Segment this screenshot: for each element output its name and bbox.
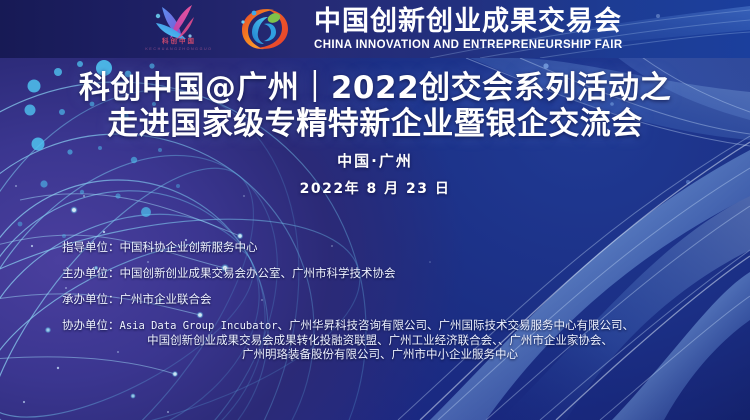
credit-label: 主办单位：	[62, 266, 120, 280]
banner-header: 科创中国 KECHUANGZHONGGUO	[0, 0, 750, 58]
credit-value: 广州市企业联合会	[120, 292, 212, 306]
coorganizer-line-3: 广州明珞装备股份有限公司、广州市中小企业服务中心	[74, 347, 686, 361]
event-location: 中国·广州	[0, 150, 750, 171]
coorganizer-label: 协办单位：	[62, 318, 120, 332]
credit-value: 中国科协企业创新服务中心	[120, 240, 258, 254]
credit-label: 指导单位：	[62, 240, 120, 254]
event-title-line-1: 科创中国@广州｜2022创交会系列活动之	[0, 70, 750, 106]
coorganizer-line-1-cn: 、广州华昇科技咨询有限公司、广州国际技术交易服务中心有限公司、	[278, 318, 635, 332]
kechuang-china-logo: 科创中国 KECHUANGZHONGGUO	[140, 2, 218, 56]
banner-title-en: CHINA INNOVATION AND ENTREPRENEURSHIP FA…	[314, 38, 623, 52]
credit-row: 指导单位：中国科协企业创新服务中心	[62, 240, 702, 254]
credit-value: 中国创新创业成果交易会办公室、广州市科学技术协会	[120, 266, 396, 280]
banner-title-cn: 中国创新创业成果交易会	[314, 7, 623, 37]
coorganizer-line-1-en: Asia Data Group Incubator	[120, 320, 278, 332]
kechuang-logo-mark	[140, 3, 218, 43]
event-title-line-2: 走进国家级专精特新企业暨银企交流会	[0, 106, 750, 142]
organizer-credits: 指导单位：中国科协企业创新服务中心 主办单位：中国创新创业成果交易会办公室、广州…	[62, 240, 702, 361]
coorganizer-line-2: 中国创新创业成果交易会成果转化投融资联盟、广州工业经济联合会、、广州市企业家协会…	[74, 333, 686, 347]
kechuang-logo-text-en: KECHUANGZHONGGUO	[140, 47, 218, 52]
coorganizer-row: 协办单位：Asia Data Group Incubator、广州华昇科技咨询有…	[62, 318, 702, 333]
event-poster: 科创中国 KECHUANGZHONGGUO	[0, 0, 750, 420]
credit-label: 承办单位：	[62, 292, 120, 306]
credit-row: 主办单位：中国创新创业成果交易会办公室、广州市科学技术协会	[62, 266, 702, 280]
credit-row: 承办单位：广州市企业联合会	[62, 292, 702, 306]
event-date: 2022年 8 月 23 日	[0, 178, 750, 198]
kechuang-logo-text-cn: 科创中国	[140, 38, 218, 46]
event-title: 科创中国@广州｜2022创交会系列活动之 走进国家级专精特新企业暨银企交流会	[0, 70, 750, 142]
banner-title-group: 中国创新创业成果交易会 CHINA INNOVATION AND ENTREPR…	[314, 7, 623, 52]
fair-swirl-logo-icon	[234, 4, 296, 54]
